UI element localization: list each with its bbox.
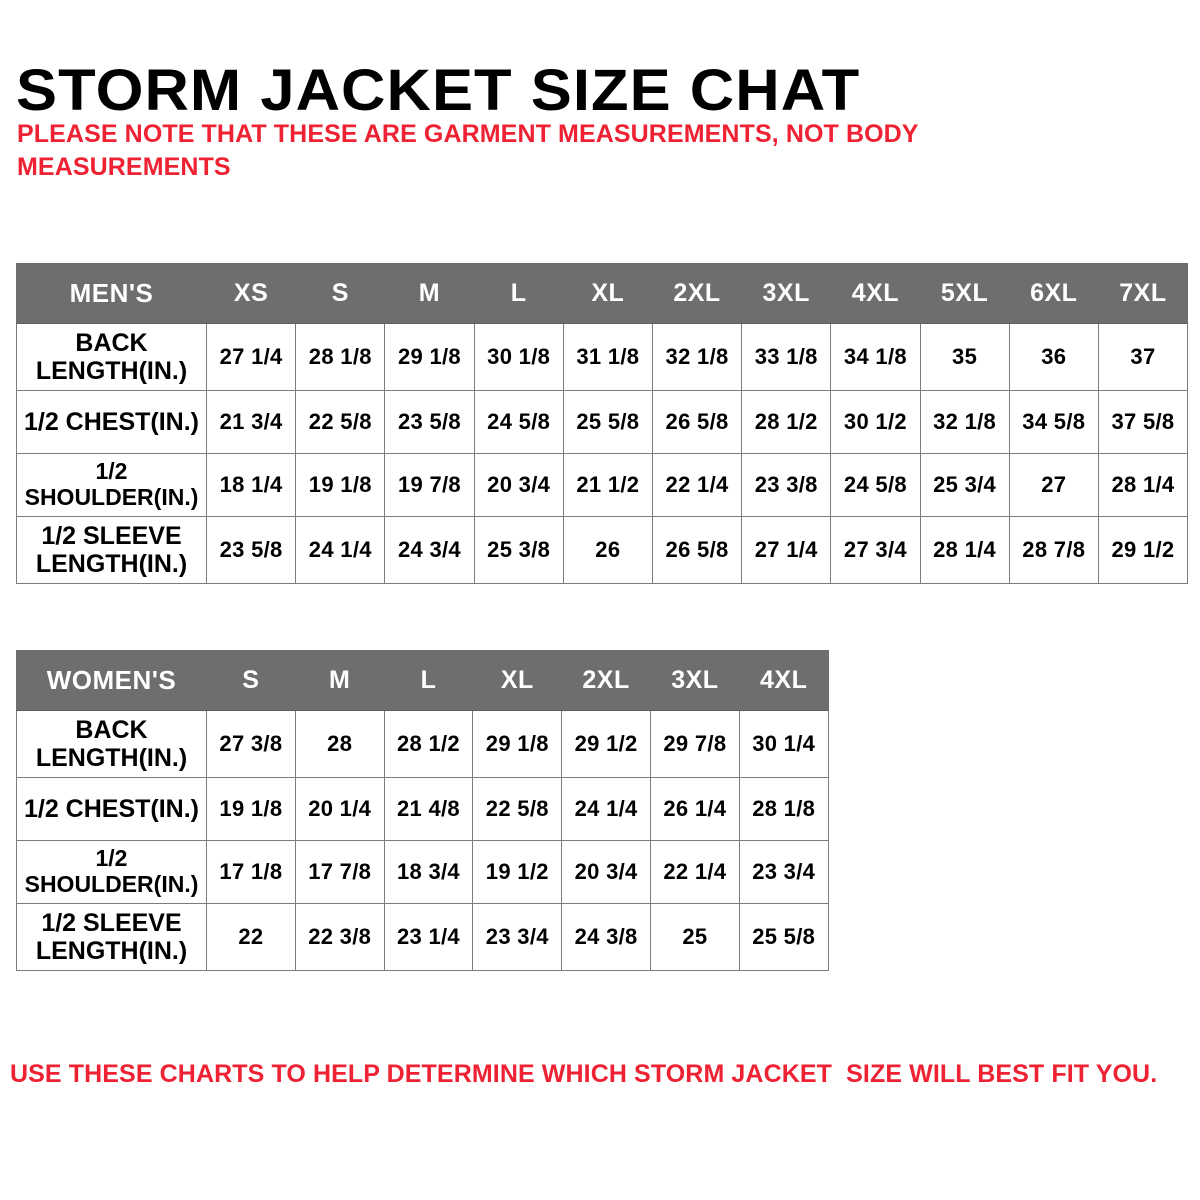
mens-column-header-4xl: 4XL xyxy=(831,264,920,324)
mens-table-head: MEN'SXSSMLXL2XL3XL4XL5XL6XL7XL xyxy=(17,264,1188,324)
measurement-cell: 36 xyxy=(1009,324,1098,391)
measurement-cell: 31 1/8 xyxy=(563,324,652,391)
measurement-cell: 24 3/8 xyxy=(562,904,651,971)
mens-column-header-m: M xyxy=(385,264,474,324)
measurement-cell: 22 xyxy=(207,904,296,971)
womens-size-table: WOMEN'SSMLXL2XL3XL4XL BACKLENGTH(IN.)27 … xyxy=(16,650,829,971)
measurement-cell: 25 xyxy=(650,904,739,971)
measurement-cell: 22 3/8 xyxy=(295,904,384,971)
mens-column-header-xs: XS xyxy=(207,264,296,324)
mens-column-header-3xl: 3XL xyxy=(742,264,831,324)
table-row: BACKLENGTH(IN.)27 1/428 1/829 1/830 1/83… xyxy=(17,324,1188,391)
womens-row-label: 1/2 SLEEVELENGTH(IN.) xyxy=(17,904,207,971)
footer-note: USE THESE CHARTS TO HELP DETERMINE WHICH… xyxy=(10,1060,1170,1089)
measurement-cell: 29 1/8 xyxy=(473,711,562,778)
measurement-cell: 26 xyxy=(563,517,652,584)
mens-column-header-l: L xyxy=(474,264,563,324)
measurement-cell: 32 1/8 xyxy=(652,324,741,391)
row-label-line-2: LENGTH(IN.) xyxy=(36,357,187,385)
measurement-cell: 25 5/8 xyxy=(563,391,652,454)
mens-row-label: 1/2 CHEST(IN.) xyxy=(17,391,207,454)
measurement-cell: 24 5/8 xyxy=(831,454,920,517)
womens-table-body: BACKLENGTH(IN.)27 3/82828 1/229 1/829 1/… xyxy=(17,711,829,971)
measurement-cell: 24 5/8 xyxy=(474,391,563,454)
mens-column-header-5xl: 5XL xyxy=(920,264,1009,324)
measurement-cell: 17 7/8 xyxy=(295,841,384,904)
measurement-cell: 20 3/4 xyxy=(562,841,651,904)
measurement-cell: 28 1/4 xyxy=(920,517,1009,584)
mens-row-label: 1/2 SHOULDER(IN.) xyxy=(17,454,207,517)
measurement-cell: 19 1/8 xyxy=(207,778,296,841)
row-label-line-2: LENGTH(IN.) xyxy=(36,550,187,578)
mens-column-header-s: S xyxy=(296,264,385,324)
measurement-cell: 29 7/8 xyxy=(650,711,739,778)
table-row: 1/2 CHEST(IN.)19 1/820 1/421 4/822 5/824… xyxy=(17,778,829,841)
measurement-cell: 28 1/8 xyxy=(739,778,828,841)
measurement-cell: 23 3/8 xyxy=(742,454,831,517)
measurement-cell: 30 1/4 xyxy=(739,711,828,778)
mens-column-header-xl: XL xyxy=(563,264,652,324)
measurement-cell: 23 5/8 xyxy=(385,391,474,454)
measurement-cell: 19 1/8 xyxy=(296,454,385,517)
measurement-cell: 27 1/4 xyxy=(742,517,831,584)
measurement-cell: 24 1/4 xyxy=(296,517,385,584)
row-label-line-1: BACK xyxy=(75,716,147,744)
row-label-line-2: LENGTH(IN.) xyxy=(36,744,187,772)
measurement-cell: 23 3/4 xyxy=(473,904,562,971)
measurement-cell: 26 1/4 xyxy=(650,778,739,841)
measurement-cell: 21 3/4 xyxy=(207,391,296,454)
measurement-cell: 28 1/2 xyxy=(742,391,831,454)
measurement-cell: 28 7/8 xyxy=(1009,517,1098,584)
measurement-cell: 21 4/8 xyxy=(384,778,473,841)
measurement-cell: 34 1/8 xyxy=(831,324,920,391)
measurement-cell: 28 1/2 xyxy=(384,711,473,778)
mens-column-header-2xl: 2XL xyxy=(652,264,741,324)
measurement-cell: 28 1/8 xyxy=(296,324,385,391)
garment-measurement-note: PLEASE NOTE THAT THESE ARE GARMENT MEASU… xyxy=(17,118,977,184)
womens-corner-header: WOMEN'S xyxy=(17,651,207,711)
womens-column-header-xl: XL xyxy=(473,651,562,711)
measurement-cell: 37 5/8 xyxy=(1098,391,1187,454)
womens-row-label: BACKLENGTH(IN.) xyxy=(17,711,207,778)
measurement-cell: 27 3/4 xyxy=(831,517,920,584)
measurement-cell: 22 5/8 xyxy=(473,778,562,841)
measurement-cell: 33 1/8 xyxy=(742,324,831,391)
measurement-cell: 23 5/8 xyxy=(207,517,296,584)
measurement-cell: 19 7/8 xyxy=(385,454,474,517)
womens-column-header-s: S xyxy=(207,651,296,711)
measurement-cell: 22 1/4 xyxy=(652,454,741,517)
measurement-cell: 22 5/8 xyxy=(296,391,385,454)
row-label-line-1: 1/2 SLEEVE xyxy=(41,909,181,937)
measurement-cell: 25 3/4 xyxy=(920,454,1009,517)
measurement-cell: 22 1/4 xyxy=(650,841,739,904)
measurement-cell: 24 1/4 xyxy=(562,778,651,841)
measurement-cell: 24 3/4 xyxy=(385,517,474,584)
measurement-cell: 20 1/4 xyxy=(295,778,384,841)
womens-column-header-2xl: 2XL xyxy=(562,651,651,711)
table-row: 1/2 CHEST(IN.)21 3/422 5/823 5/824 5/825… xyxy=(17,391,1188,454)
measurement-cell: 26 5/8 xyxy=(652,517,741,584)
mens-column-header-7xl: 7XL xyxy=(1098,264,1187,324)
womens-column-header-3xl: 3XL xyxy=(650,651,739,711)
measurement-cell: 23 1/4 xyxy=(384,904,473,971)
measurement-cell: 19 1/2 xyxy=(473,841,562,904)
page-title: STORM JACKET SIZE CHAT xyxy=(16,61,860,122)
measurement-cell: 34 5/8 xyxy=(1009,391,1098,454)
measurement-cell: 29 1/2 xyxy=(1098,517,1187,584)
table-row: 1/2 SLEEVELENGTH(IN.)23 5/824 1/424 3/42… xyxy=(17,517,1188,584)
row-label-line-1: 1/2 SLEEVE xyxy=(41,522,181,550)
measurement-cell: 27 3/8 xyxy=(207,711,296,778)
womens-row-label: 1/2 CHEST(IN.) xyxy=(17,778,207,841)
size-chart-page: STORM JACKET SIZE CHAT PLEASE NOTE THAT … xyxy=(0,0,1200,1200)
womens-column-header-l: L xyxy=(384,651,473,711)
mens-row-label: BACKLENGTH(IN.) xyxy=(17,324,207,391)
mens-table-body: BACKLENGTH(IN.)27 1/428 1/829 1/830 1/83… xyxy=(17,324,1188,584)
measurement-cell: 21 1/2 xyxy=(563,454,652,517)
womens-column-header-4xl: 4XL xyxy=(739,651,828,711)
measurement-cell: 28 1/4 xyxy=(1098,454,1187,517)
measurement-cell: 26 5/8 xyxy=(652,391,741,454)
table-row: BACKLENGTH(IN.)27 3/82828 1/229 1/829 1/… xyxy=(17,711,829,778)
womens-header-row: WOMEN'SSMLXL2XL3XL4XL xyxy=(17,651,829,711)
womens-table-head: WOMEN'SSMLXL2XL3XL4XL xyxy=(17,651,829,711)
mens-row-label: 1/2 SLEEVELENGTH(IN.) xyxy=(17,517,207,584)
measurement-cell: 20 3/4 xyxy=(474,454,563,517)
measurement-cell: 37 xyxy=(1098,324,1187,391)
table-row: 1/2 SHOULDER(IN.)17 1/817 7/818 3/419 1/… xyxy=(17,841,829,904)
measurement-cell: 18 3/4 xyxy=(384,841,473,904)
row-label-line-1: BACK xyxy=(75,329,147,357)
table-row: 1/2 SHOULDER(IN.)18 1/419 1/819 7/820 3/… xyxy=(17,454,1188,517)
mens-column-header-6xl: 6XL xyxy=(1009,264,1098,324)
row-label-line-2: LENGTH(IN.) xyxy=(36,937,187,965)
measurement-cell: 29 1/2 xyxy=(562,711,651,778)
womens-column-header-m: M xyxy=(295,651,384,711)
measurement-cell: 30 1/8 xyxy=(474,324,563,391)
measurement-cell: 28 xyxy=(295,711,384,778)
measurement-cell: 32 1/8 xyxy=(920,391,1009,454)
measurement-cell: 23 3/4 xyxy=(739,841,828,904)
mens-header-row: MEN'SXSSMLXL2XL3XL4XL5XL6XL7XL xyxy=(17,264,1188,324)
measurement-cell: 27 xyxy=(1009,454,1098,517)
measurement-cell: 17 1/8 xyxy=(207,841,296,904)
table-row: 1/2 SLEEVELENGTH(IN.)2222 3/823 1/423 3/… xyxy=(17,904,829,971)
measurement-cell: 30 1/2 xyxy=(831,391,920,454)
mens-size-table: MEN'SXSSMLXL2XL3XL4XL5XL6XL7XL BACKLENGT… xyxy=(16,263,1188,584)
measurement-cell: 25 3/8 xyxy=(474,517,563,584)
mens-corner-header: MEN'S xyxy=(17,264,207,324)
measurement-cell: 25 5/8 xyxy=(739,904,828,971)
womens-row-label: 1/2 SHOULDER(IN.) xyxy=(17,841,207,904)
measurement-cell: 18 1/4 xyxy=(207,454,296,517)
measurement-cell: 27 1/4 xyxy=(207,324,296,391)
measurement-cell: 29 1/8 xyxy=(385,324,474,391)
measurement-cell: 35 xyxy=(920,324,1009,391)
